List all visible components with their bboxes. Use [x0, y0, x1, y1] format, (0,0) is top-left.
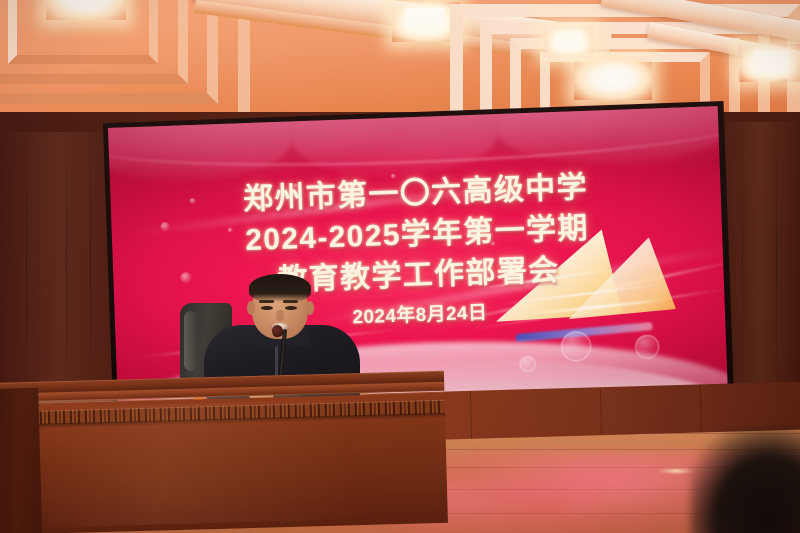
speaker-eyebrow-left — [259, 300, 274, 303]
skirt-grain-line — [600, 387, 602, 435]
ceiling-downlight — [46, 0, 126, 20]
chair-highlight — [184, 311, 198, 371]
ceiling-downlight-core — [406, 8, 444, 30]
speaker-podium — [0, 371, 448, 533]
skirt-grain-line — [470, 391, 472, 439]
conference-photo-scene: 郑州市第一〇六高级中学 2024-2025学年第一学期 教育教学工作部署会 20… — [0, 0, 800, 533]
speaker-eye-left — [261, 306, 273, 310]
ceiling-downlight-core — [754, 52, 788, 72]
ceiling-downlight — [574, 56, 652, 100]
speaker-ear-left — [247, 301, 255, 315]
speaker-eyebrow-right — [283, 300, 298, 303]
podium-sheen — [45, 399, 348, 527]
speaker-ear-right — [306, 301, 314, 315]
foreground-audience-silhouette — [690, 429, 800, 533]
skirt-grain-line — [700, 384, 702, 432]
podium-left-side — [0, 388, 42, 533]
speaker-nose — [276, 310, 284, 321]
speaker-eye-right — [285, 306, 297, 310]
speaker-hair — [249, 274, 311, 302]
wall-sheen — [0, 132, 120, 392]
ceiling-downlight-core — [556, 33, 582, 49]
